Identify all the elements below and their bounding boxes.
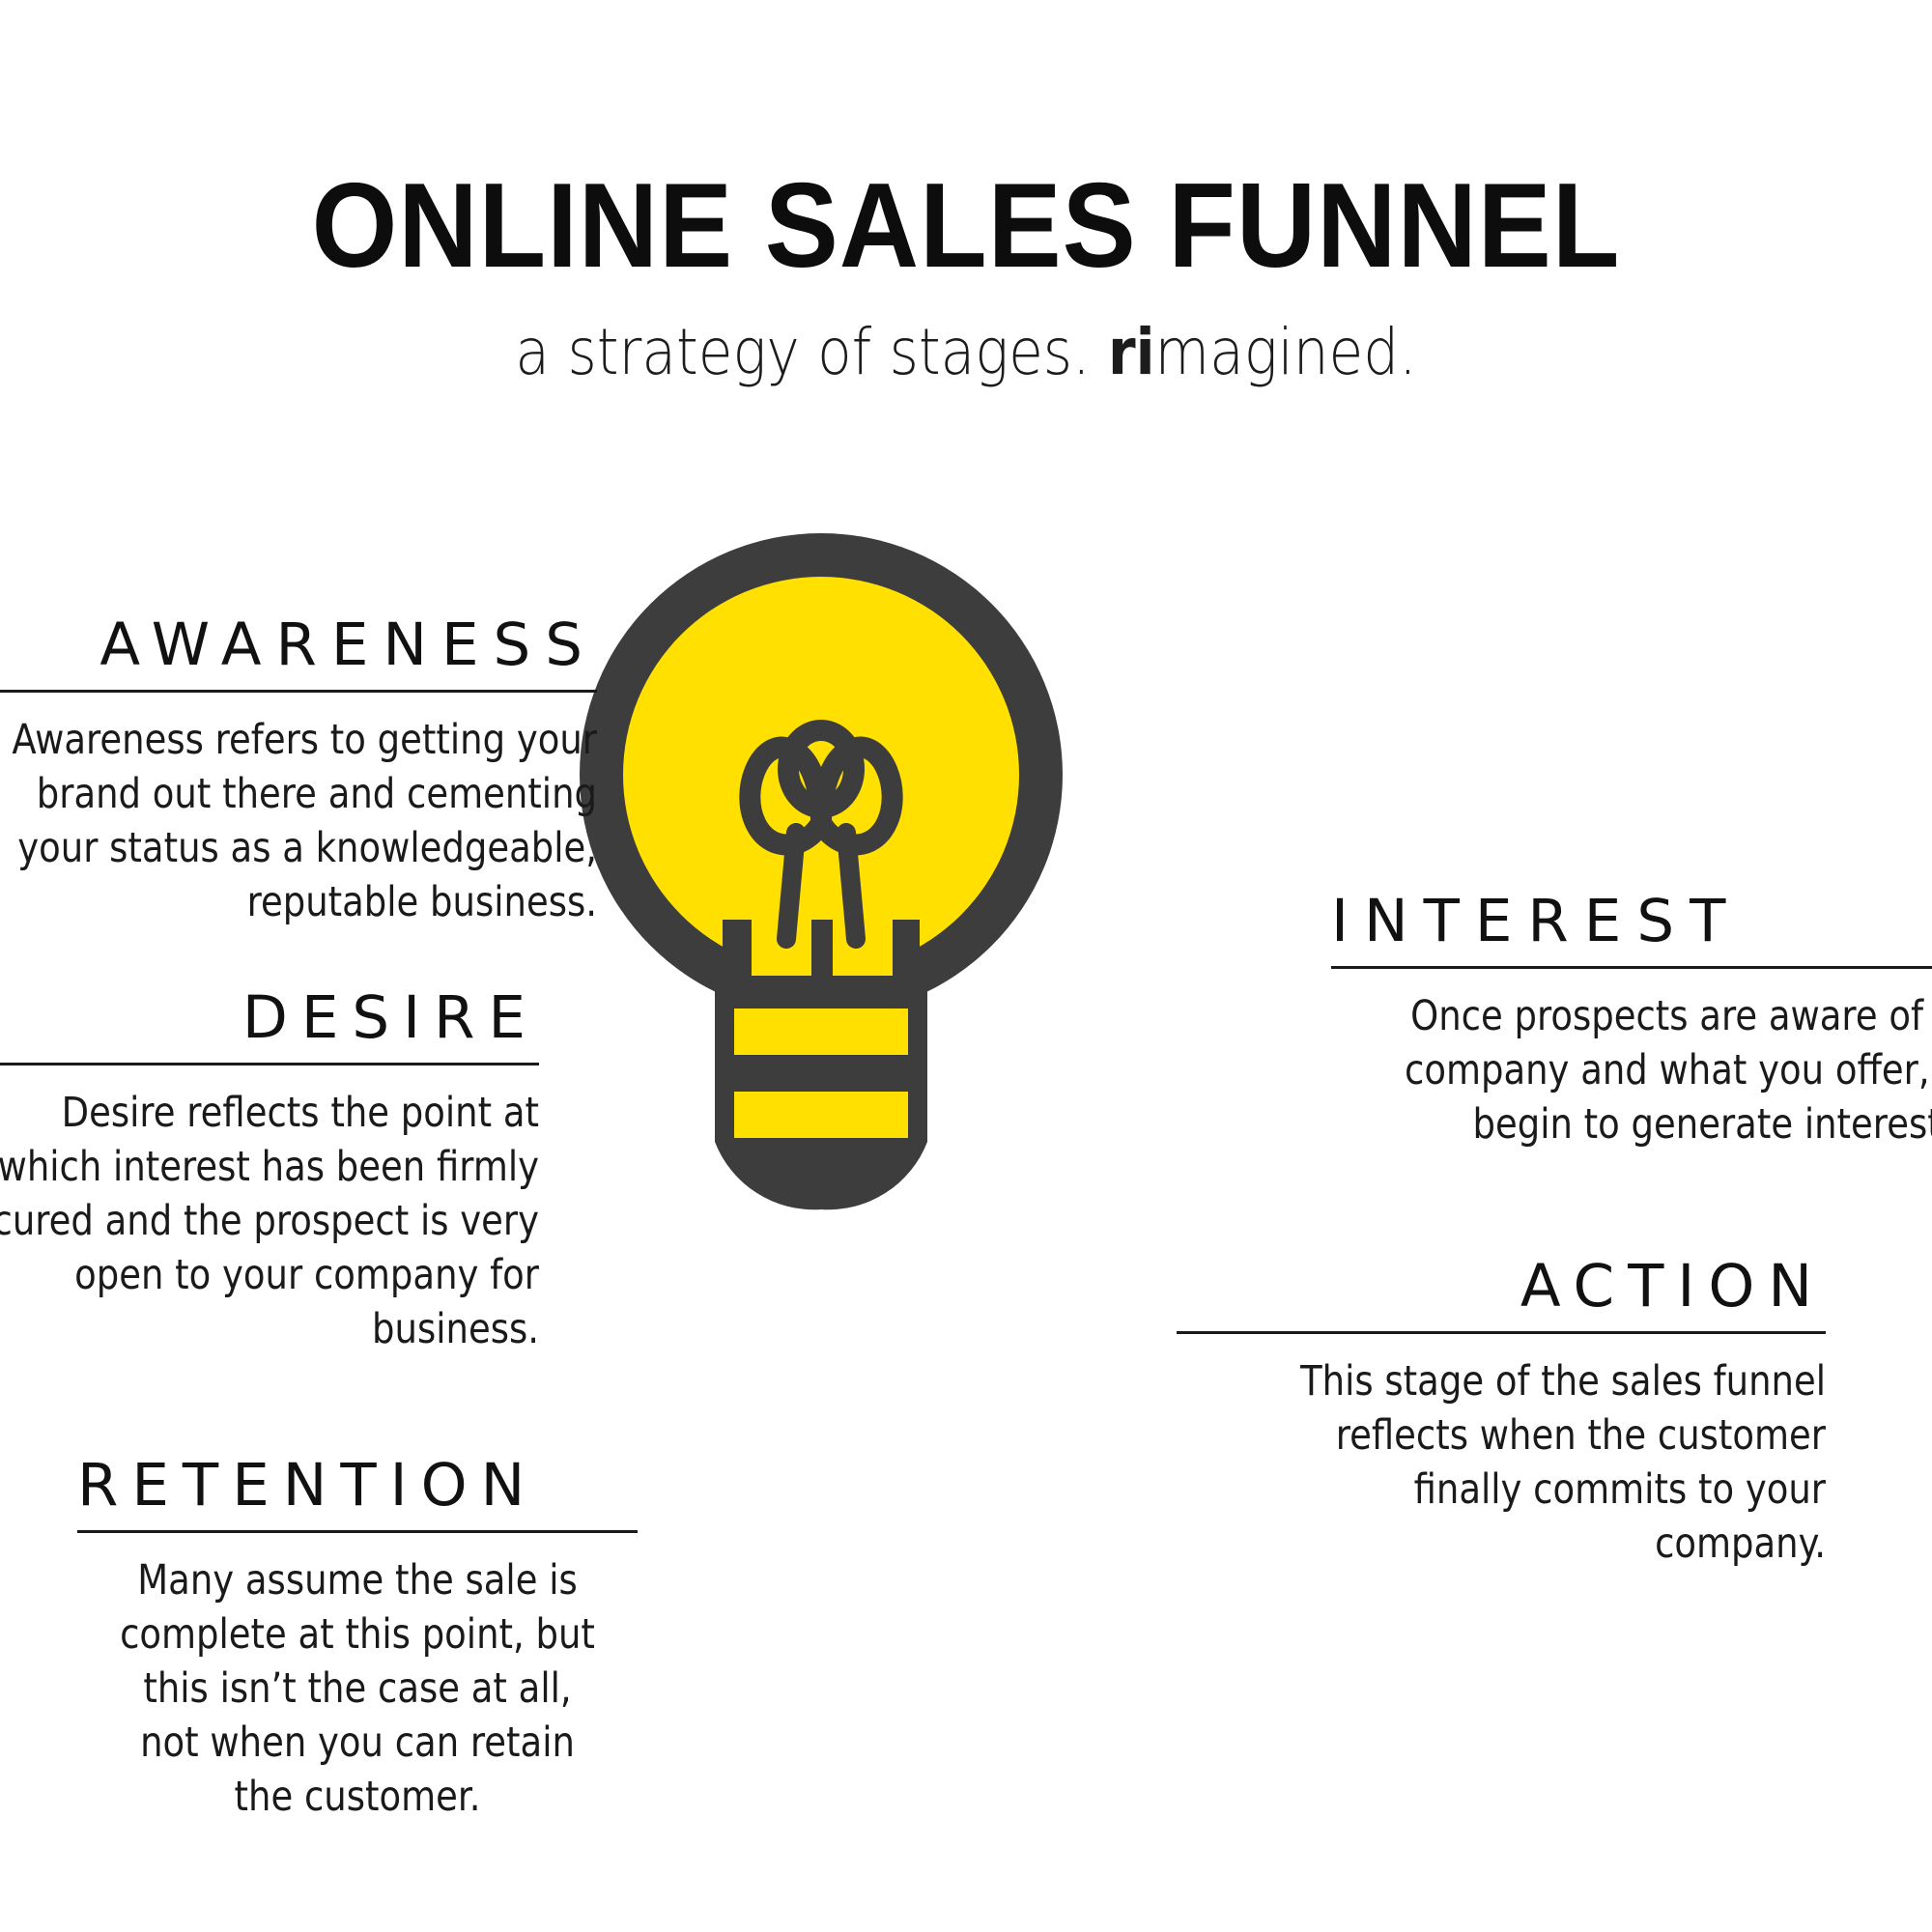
infographic-canvas: ONLINE SALES FUNNEL a strategy of stages… [0, 0, 1932, 1932]
stage-retention-title: RETENTION [77, 1455, 638, 1517]
stage-action-body: This stage of the sales funnel reflects … [1267, 1355, 1826, 1572]
subtitle-part-1: a strategy of stages. [515, 315, 1108, 389]
stage-interest-body: Once prospects are aware of your company… [1384, 990, 1932, 1152]
stage-awareness-title: AWARENESS [0, 614, 597, 676]
subtitle-part-2: magined. [1155, 315, 1417, 389]
stage-awareness-body: Awareness refers to getting your brand o… [0, 714, 597, 930]
stage-awareness: AWARENESS Awareness refers to getting yo… [0, 614, 597, 930]
stage-awareness-rule [0, 690, 597, 693]
stage-action-rule [1177, 1331, 1826, 1334]
stage-desire-title: DESIRE [0, 987, 539, 1049]
stage-interest: INTEREST Once prospects are aware of you… [1331, 891, 1932, 1152]
stage-desire-rule [0, 1063, 539, 1065]
stage-retention-body: Many assume the sale is complete at this… [117, 1554, 599, 1824]
page-subtitle: a strategy of stages. rimagined. [116, 286, 1816, 384]
stage-desire: DESIRE Desire reflects the point at whic… [0, 987, 539, 1357]
stage-desire-body: Desire reflects the point at which inter… [0, 1087, 539, 1356]
subtitle-emphasis: ri [1108, 315, 1155, 389]
page-title: ONLINE SALES FUNNEL [77, 0, 1855, 286]
stage-interest-rule [1331, 966, 1932, 969]
stage-interest-title: INTEREST [1331, 891, 1932, 952]
header: ONLINE SALES FUNNEL a strategy of stages… [0, 0, 1932, 384]
lightbulb-icon [580, 533, 1063, 1354]
stage-retention-rule [77, 1530, 638, 1533]
stage-retention: RETENTION Many assume the sale is comple… [77, 1455, 638, 1825]
stage-action-title: ACTION [1177, 1256, 1826, 1318]
stage-action: ACTION This stage of the sales funnel re… [1177, 1256, 1826, 1572]
